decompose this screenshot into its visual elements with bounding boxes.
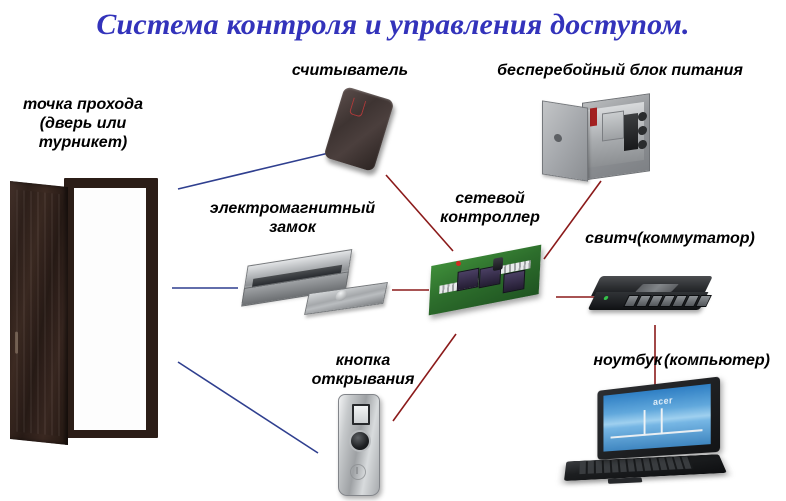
psu-terminal-block xyxy=(590,108,597,127)
network-switch xyxy=(590,272,720,332)
laptop-touchpad[interactable] xyxy=(608,477,643,484)
door-handle xyxy=(15,331,18,353)
laptop-brand-text: acer xyxy=(653,395,673,407)
page-title: Система контроля и управления доступом. xyxy=(0,8,786,42)
label-power-supply: бесперебойный блок питания xyxy=(470,62,770,81)
access-point-door xyxy=(8,178,158,478)
label-card-reader: считыватель xyxy=(275,62,425,81)
label-network-controller: сетевой контроллер xyxy=(410,190,570,228)
wallpaper-pylon xyxy=(661,408,663,434)
label-network-switch: свитч(коммутатор) xyxy=(560,230,780,249)
psu-door xyxy=(542,100,588,181)
electromagnetic-lock xyxy=(240,250,390,335)
card-reader xyxy=(325,86,415,176)
wallpaper-bridge xyxy=(611,429,703,438)
label-exit-button: кнопка открывания xyxy=(278,352,448,390)
controller-capacitor xyxy=(493,257,503,271)
exit-button-knob[interactable] xyxy=(349,430,371,452)
switch-brand-logo xyxy=(635,284,679,292)
wire-door-to-reader xyxy=(178,152,333,189)
exit-button-window xyxy=(352,404,370,425)
label-access-point: точка прохода (дверь или турникет) xyxy=(8,96,158,153)
power-symbol-icon xyxy=(350,464,366,480)
exit-button xyxy=(330,392,390,497)
laptop-screen: acer xyxy=(603,384,710,452)
psu-battery xyxy=(624,113,638,151)
psu-lock-icon xyxy=(554,133,562,142)
wallpaper-pylon xyxy=(644,410,646,436)
controller-power-led-icon xyxy=(456,261,461,266)
label-electromagnetic-lock: электромагнитный замок xyxy=(185,200,400,238)
uninterruptible-power-supply xyxy=(540,90,660,185)
label-computer: (компьютер) xyxy=(664,352,784,371)
psu-board xyxy=(602,110,624,141)
label-laptop: ноутбук xyxy=(552,352,662,371)
network-controller xyxy=(425,248,555,333)
door-leaf xyxy=(10,181,68,445)
diagram-canvas: Система контроля и управления доступом. … xyxy=(0,0,786,501)
door-opening xyxy=(74,188,146,430)
laptop-computer: acer xyxy=(566,384,736,494)
